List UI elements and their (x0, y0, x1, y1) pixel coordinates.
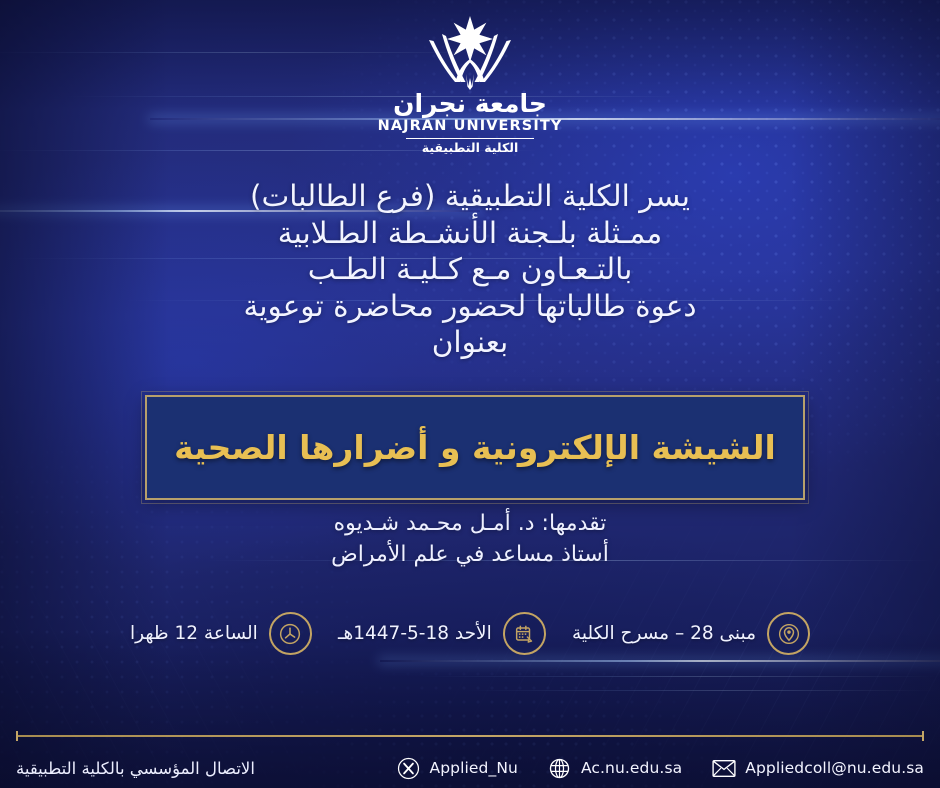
x-twitter-icon[interactable] (397, 756, 421, 780)
lecture-title: الشيشة الإلكترونية و أضرارها الصحية (174, 428, 776, 467)
intro-line-4: دعوة طالباتها لحضور محاضرة توعوية (140, 288, 800, 325)
speaker-block: تقدمها: د. أمـل محـمد شـديوه أستاذ مساعد… (140, 508, 800, 570)
event-detail-location: مبنى 28 – مسرح الكلية (572, 612, 810, 655)
contact-website-url[interactable]: Ac.nu.edu.sa (581, 759, 682, 777)
university-logo: جامعة نجران NAJRAN UNIVERSITY الكلية الت… (0, 12, 940, 155)
event-location-text: مبنى 28 – مسرح الكلية (572, 623, 756, 644)
footer-contacts: Applied_Nu Ac.nu.edu.sa (397, 756, 924, 780)
event-date-text: الأحد 18-5-1447هـ (338, 623, 492, 644)
logo-name-arabic: جامعة نجران (393, 91, 547, 116)
speaker-name: تقدمها: د. أمـل محـمد شـديوه (140, 508, 800, 539)
logo-divider (406, 138, 534, 140)
intro-line-1: يسر الكلية التطبيقية (فرع الطالبات) (140, 178, 800, 215)
najran-university-star-emblem (411, 12, 529, 90)
speaker-role: أستاذ مساعد في علم الأمراض (140, 539, 800, 570)
globe-icon[interactable] (548, 756, 572, 780)
location-pin-icon (767, 612, 810, 655)
contact-email-address[interactable]: Appliedcoll@nu.edu.sa (745, 759, 924, 777)
event-detail-date: الأحد 18-5-1447هـ (338, 612, 546, 655)
footer: الاتصال المؤسسي بالكلية التطبيقية Applie… (0, 748, 940, 788)
logo-subtitle: الكلية التطبيقية (422, 142, 519, 155)
footer-tagline: الاتصال المؤسسي بالكلية التطبيقية (16, 759, 255, 778)
lecture-title-box: الشيشة الإلكترونية و أضرارها الصحية (145, 395, 805, 500)
event-details-row: مبنى 28 – مسرح الكلية (130, 612, 810, 655)
logo-name-english: NAJRAN UNIVERSITY (378, 119, 563, 134)
contact-twitter-handle[interactable]: Applied_Nu (430, 759, 518, 777)
intro-line-3: بالتـعـاون مـع كـليـة الطـب (140, 251, 800, 288)
clock-icon (269, 612, 312, 655)
calendar-icon (503, 612, 546, 655)
intro-line-5: بعنوان (140, 324, 800, 361)
poster-canvas: جامعة نجران NAJRAN UNIVERSITY الكلية الت… (0, 0, 940, 788)
event-time-text: الساعة 12 ظهرا (130, 623, 258, 644)
intro-paragraph: يسر الكلية التطبيقية (فرع الطالبات) ممـث… (140, 178, 800, 361)
envelope-icon[interactable] (712, 756, 736, 780)
intro-line-2: ممـثلة بلـجنة الأنشـطة الطـلابية (140, 215, 800, 252)
contact-email[interactable]: Appliedcoll@nu.edu.sa (712, 756, 924, 780)
contact-twitter[interactable]: Applied_Nu (397, 756, 518, 780)
contact-website[interactable]: Ac.nu.edu.sa (548, 756, 682, 780)
footer-divider (16, 735, 924, 737)
event-detail-time: الساعة 12 ظهرا (130, 612, 312, 655)
